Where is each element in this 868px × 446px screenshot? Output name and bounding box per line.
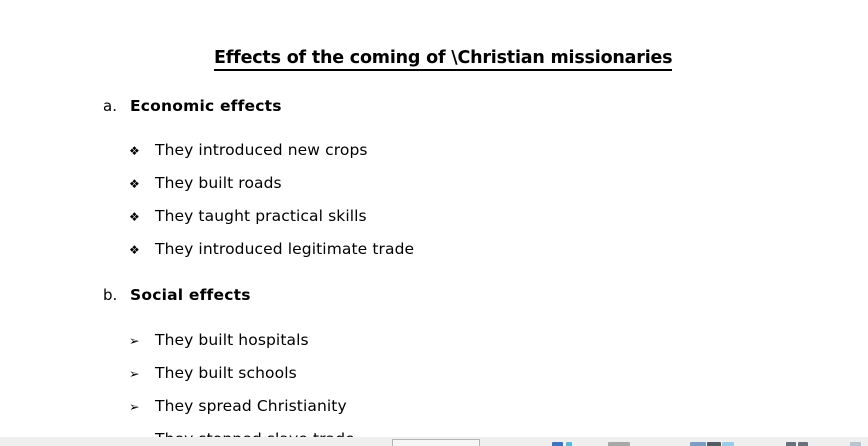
florette-bullet-icon: ❖ [129,244,155,256]
taskbar-icon-slate-two[interactable] [798,442,808,446]
list-item: ➢ They spread Christianity [129,397,355,430]
list-item: ❖ They introduced legitimate trade [129,240,414,273]
taskbar [0,437,868,446]
arrowhead-bullet-icon: ➢ [129,335,155,348]
section-heading-economic: a. Economic effects [103,97,282,115]
florette-bullet-icon: ❖ [129,178,155,190]
list-item-label: They built roads [155,174,282,192]
list-item: ➢ They built hospitals [129,331,355,364]
florette-bullet-icon: ❖ [129,211,155,223]
section-marker-b: b. [103,286,130,304]
document-title: Effects of the coming of \Christian miss… [214,48,672,71]
taskbar-icon-grey[interactable] [608,442,630,446]
arrowhead-bullet-icon: ➢ [129,368,155,381]
taskbar-search-input[interactable] [392,439,480,446]
bullet-list-social: ➢ They built hospitals ➢ They built scho… [129,331,355,437]
list-item-label: They spread Christianity [155,397,347,415]
section-marker-a: a. [103,97,130,115]
list-item: ➢ They built schools [129,364,355,397]
list-item-label: They introduced legitimate trade [155,240,414,258]
florette-bullet-icon: ❖ [129,145,155,157]
taskbar-icon-pale[interactable] [850,442,861,446]
taskbar-icon-lightblue[interactable] [722,442,734,446]
list-item: ➢ They stopped slave trade [129,430,355,437]
list-item-label: They built hospitals [155,331,309,349]
taskbar-icon-dark[interactable] [707,442,721,446]
list-item-label: They stopped slave trade [155,430,355,437]
list-item: ❖ They built roads [129,174,414,207]
taskbar-icon-slate[interactable] [786,442,796,446]
section-label-social: Social effects [130,286,251,304]
list-item-label: They introduced new crops [155,141,368,159]
taskbar-icon-blue[interactable] [552,442,563,446]
section-label-economic: Economic effects [130,97,282,115]
arrowhead-bullet-icon: ➢ [129,401,155,414]
taskbar-icon-teal[interactable] [566,442,572,446]
taskbar-icon-steel[interactable] [690,442,706,446]
section-heading-social: b. Social effects [103,286,251,304]
list-item: ❖ They taught practical skills [129,207,414,240]
list-item-label: They taught practical skills [155,207,367,225]
document-page: Effects of the coming of \Christian miss… [0,0,868,437]
bullet-list-economic: ❖ They introduced new crops ❖ They built… [129,141,414,273]
list-item: ❖ They introduced new crops [129,141,414,174]
list-item-label: They built schools [155,364,297,382]
